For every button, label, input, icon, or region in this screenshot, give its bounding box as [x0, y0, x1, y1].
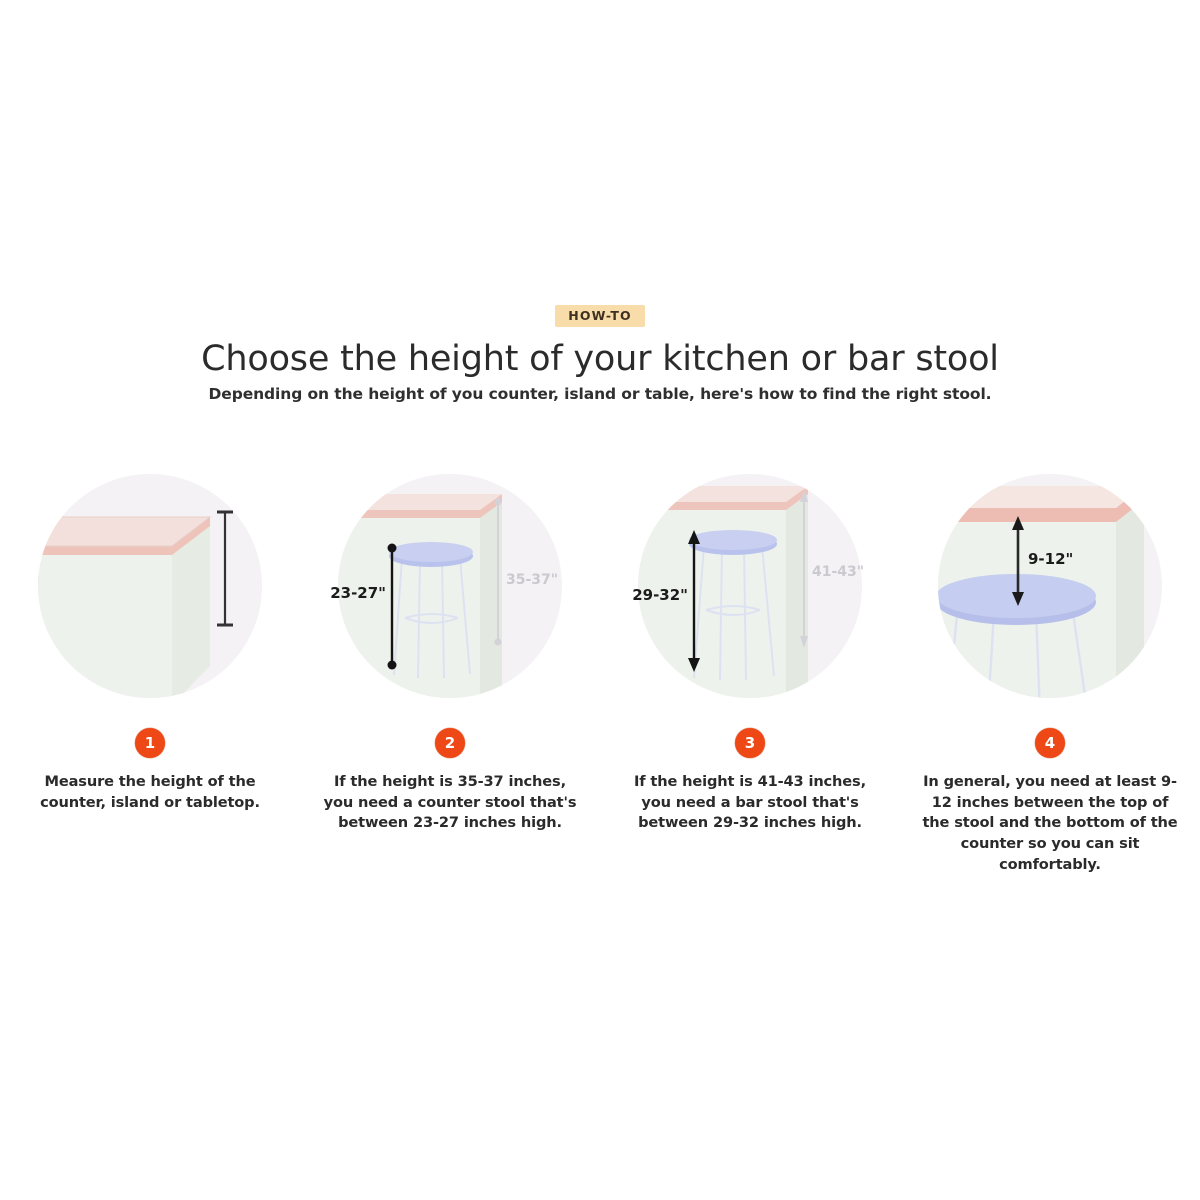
measurement-label-stool-height: 29-32"	[632, 586, 688, 604]
measurement-label-counter-height: 35-37"	[506, 572, 558, 588]
measurement-label-stool-height: 23-27"	[330, 584, 386, 602]
counter-side	[1116, 500, 1144, 720]
panel-caption-1: Measure the height of the counter, islan…	[18, 772, 282, 813]
counter-stool-illustration	[320, 494, 502, 710]
illustration-counter-stool: 23-27" 35-37"	[320, 460, 580, 720]
panel-caption-3: If the height is 41-43 inches, you need …	[618, 772, 882, 834]
page-title: Choose the height of your kitchen or bar…	[0, 340, 1200, 379]
howto-badge: HOW-TO	[555, 305, 644, 327]
header: HOW-TO Choose the height of your kitchen…	[0, 305, 1200, 403]
panel-3: 29-32" 41-43" 3 If the height is 41-43 i…	[600, 460, 900, 876]
counter-illustration	[20, 517, 210, 705]
step-number-badge-1: 1	[135, 728, 165, 758]
panel-caption-2: If the height is 35-37 inches, you need …	[318, 772, 582, 834]
measurement-label-counter-height: 41-43"	[812, 564, 864, 580]
counter-top-surface	[620, 486, 808, 502]
panel-1: 1 Measure the height of the counter, isl…	[0, 460, 300, 876]
step-number-badge-3: 3	[735, 728, 765, 758]
infographic-page: HOW-TO Choose the height of your kitchen…	[0, 0, 1200, 1200]
counter-top-surface	[920, 486, 1144, 508]
step-number-badge-2: 2	[435, 728, 465, 758]
panel-caption-4: In general, you need at least 9-12 inche…	[918, 772, 1182, 876]
panel-2: 23-27" 35-37" 2 If the height is 35-37 i…	[300, 460, 600, 876]
illustration-stool-clearance: 9-12"	[920, 460, 1180, 720]
illustration-bar-stool: 29-32" 41-43"	[620, 460, 880, 720]
illustration-counter-two-stools	[20, 460, 280, 720]
panel-row: 1 Measure the height of the counter, isl…	[0, 460, 1200, 876]
stool-seat-top	[389, 542, 473, 562]
counter-top-surface	[320, 494, 502, 510]
measurement-label-clearance: 9-12"	[1028, 550, 1073, 568]
panel-4: 9-12" 4 In general, you need at least 9-…	[900, 460, 1200, 876]
clearance-illustration	[920, 486, 1144, 720]
stool-seat-top	[689, 530, 777, 550]
page-subtitle: Depending on the height of you counter, …	[0, 385, 1200, 403]
step-number-badge-4: 4	[1035, 728, 1065, 758]
counter-front	[20, 555, 172, 705]
